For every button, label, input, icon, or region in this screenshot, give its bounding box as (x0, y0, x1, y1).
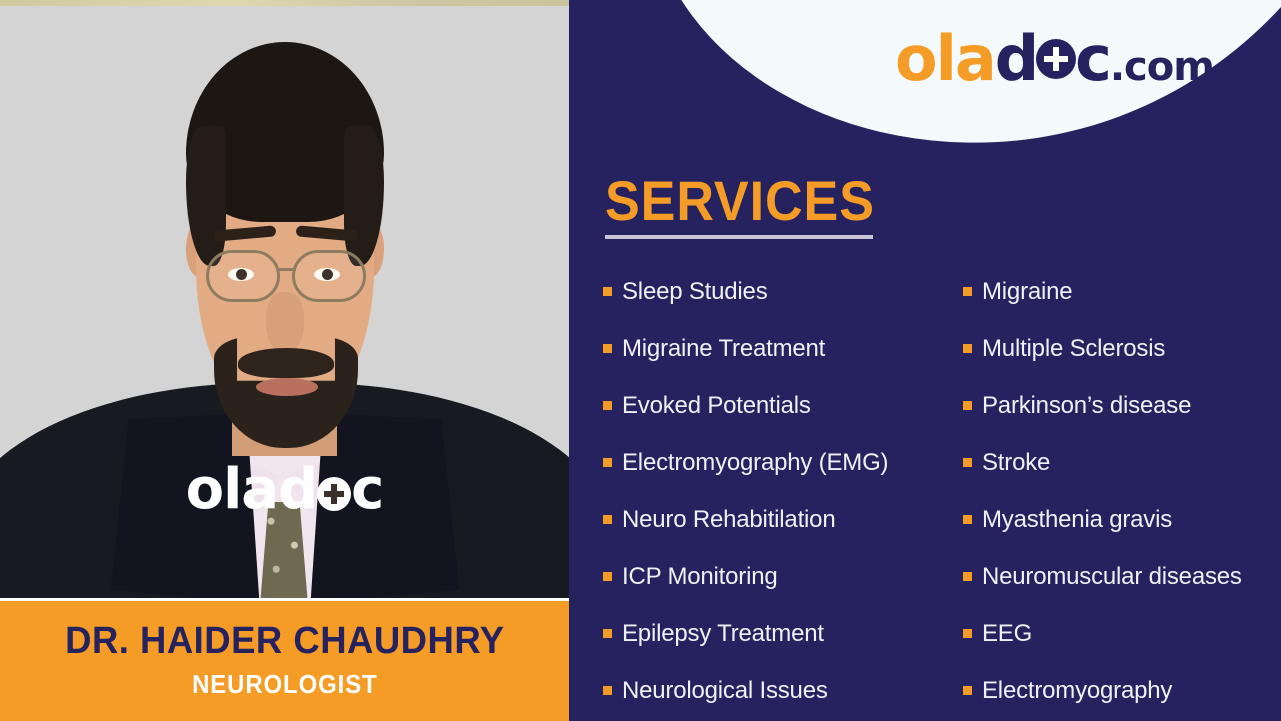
bullet-square-icon (963, 401, 972, 410)
bullet-square-icon (963, 344, 972, 353)
list-item: Evoked Potentials (603, 392, 963, 420)
eyeglass-lens-right (292, 250, 366, 302)
logo-d-text: d (995, 22, 1037, 95)
services-columns: Sleep Studies Migraine Treatment Evoked … (603, 278, 1279, 698)
service-label: Stroke (982, 449, 1050, 477)
bullet-square-icon (603, 629, 612, 638)
logo-plus-icon (1036, 39, 1076, 79)
services-right-column: Migraine Multiple Sclerosis Parkinson’s … (963, 278, 1279, 698)
doctor-specialty: NEUROLOGIST (192, 669, 378, 700)
bullet-square-icon (963, 572, 972, 581)
doctor-photo: oladc (0, 0, 569, 598)
doctor-services-poster: oladc DR. HAIDER CHAUDHRY NEUROLOGIST ol… (0, 0, 1281, 721)
service-label: Parkinson’s disease (982, 392, 1191, 420)
bullet-square-icon (603, 287, 612, 296)
service-label: Neurological Issues (622, 677, 828, 705)
bullet-square-icon (603, 401, 612, 410)
service-label: EEG (982, 620, 1032, 648)
mustache (238, 348, 334, 378)
list-item: Stroke (963, 449, 1279, 477)
list-item: Multiple Sclerosis (963, 335, 1279, 363)
service-label: Migraine Treatment (622, 335, 825, 363)
oladoc-watermark: oladc (0, 462, 569, 518)
bullet-square-icon (963, 287, 972, 296)
service-label: Neuro Rehabitilation (622, 506, 835, 534)
watermark-plus-icon (317, 477, 351, 511)
list-item: Electromyography (EMG) (603, 449, 963, 477)
list-item: EEG (963, 620, 1279, 648)
list-item: Neuromuscular diseases (963, 563, 1279, 591)
service-label: Myasthenia gravis (982, 506, 1172, 534)
nose (266, 292, 304, 354)
services-title-underline (605, 235, 873, 239)
list-item: Migraine Treatment (603, 335, 963, 363)
logo-ola-text: ola (895, 22, 995, 95)
doctor-name-banner: DR. HAIDER CHAUDHRY NEUROLOGIST (0, 598, 570, 721)
list-item: Myasthenia gravis (963, 506, 1279, 534)
eyeglass-bridge (278, 268, 296, 271)
watermark-c-text: c (351, 457, 383, 522)
lips (256, 378, 318, 396)
bullet-square-icon (603, 344, 612, 353)
service-label: Neuromuscular diseases (982, 563, 1242, 591)
list-item: Electromyography (963, 677, 1279, 705)
list-item: ICP Monitoring (603, 563, 963, 591)
list-item: Parkinson’s disease (963, 392, 1279, 420)
services-panel: oladc.com SERVICES Sleep Studies Migrain… (569, 0, 1281, 721)
list-item: Neurological Issues (603, 677, 963, 705)
watermark-d-text: d (278, 457, 317, 522)
logo-c-text: c (1075, 22, 1110, 95)
bullet-square-icon (963, 629, 972, 638)
list-item: Neuro Rehabitilation (603, 506, 963, 534)
bullet-square-icon (603, 458, 612, 467)
services-title: SERVICES (605, 168, 875, 233)
service-label: Evoked Potentials (622, 392, 811, 420)
logo-domain-text: .com (1110, 44, 1214, 90)
bullet-square-icon (963, 515, 972, 524)
bullet-square-icon (603, 686, 612, 695)
eyeglass-lens-left (206, 250, 280, 302)
list-item: Epilepsy Treatment (603, 620, 963, 648)
service-label: Sleep Studies (622, 278, 768, 306)
service-label: ICP Monitoring (622, 563, 778, 591)
bullet-square-icon (603, 572, 612, 581)
bullet-square-icon (963, 686, 972, 695)
service-label: Epilepsy Treatment (622, 620, 824, 648)
oladoc-logo[interactable]: oladc.com (895, 28, 1214, 90)
doctor-name: DR. HAIDER CHAUDHRY (65, 622, 504, 662)
list-item: Sleep Studies (603, 278, 963, 306)
service-label: Electromyography (EMG) (622, 449, 888, 477)
bullet-square-icon (963, 458, 972, 467)
services-left-column: Sleep Studies Migraine Treatment Evoked … (603, 278, 963, 698)
list-item: Migraine (963, 278, 1279, 306)
watermark-ola-text: ola (186, 457, 278, 522)
service-label: Electromyography (982, 677, 1172, 705)
bullet-square-icon (603, 515, 612, 524)
service-label: Multiple Sclerosis (982, 335, 1165, 363)
service-label: Migraine (982, 278, 1072, 306)
